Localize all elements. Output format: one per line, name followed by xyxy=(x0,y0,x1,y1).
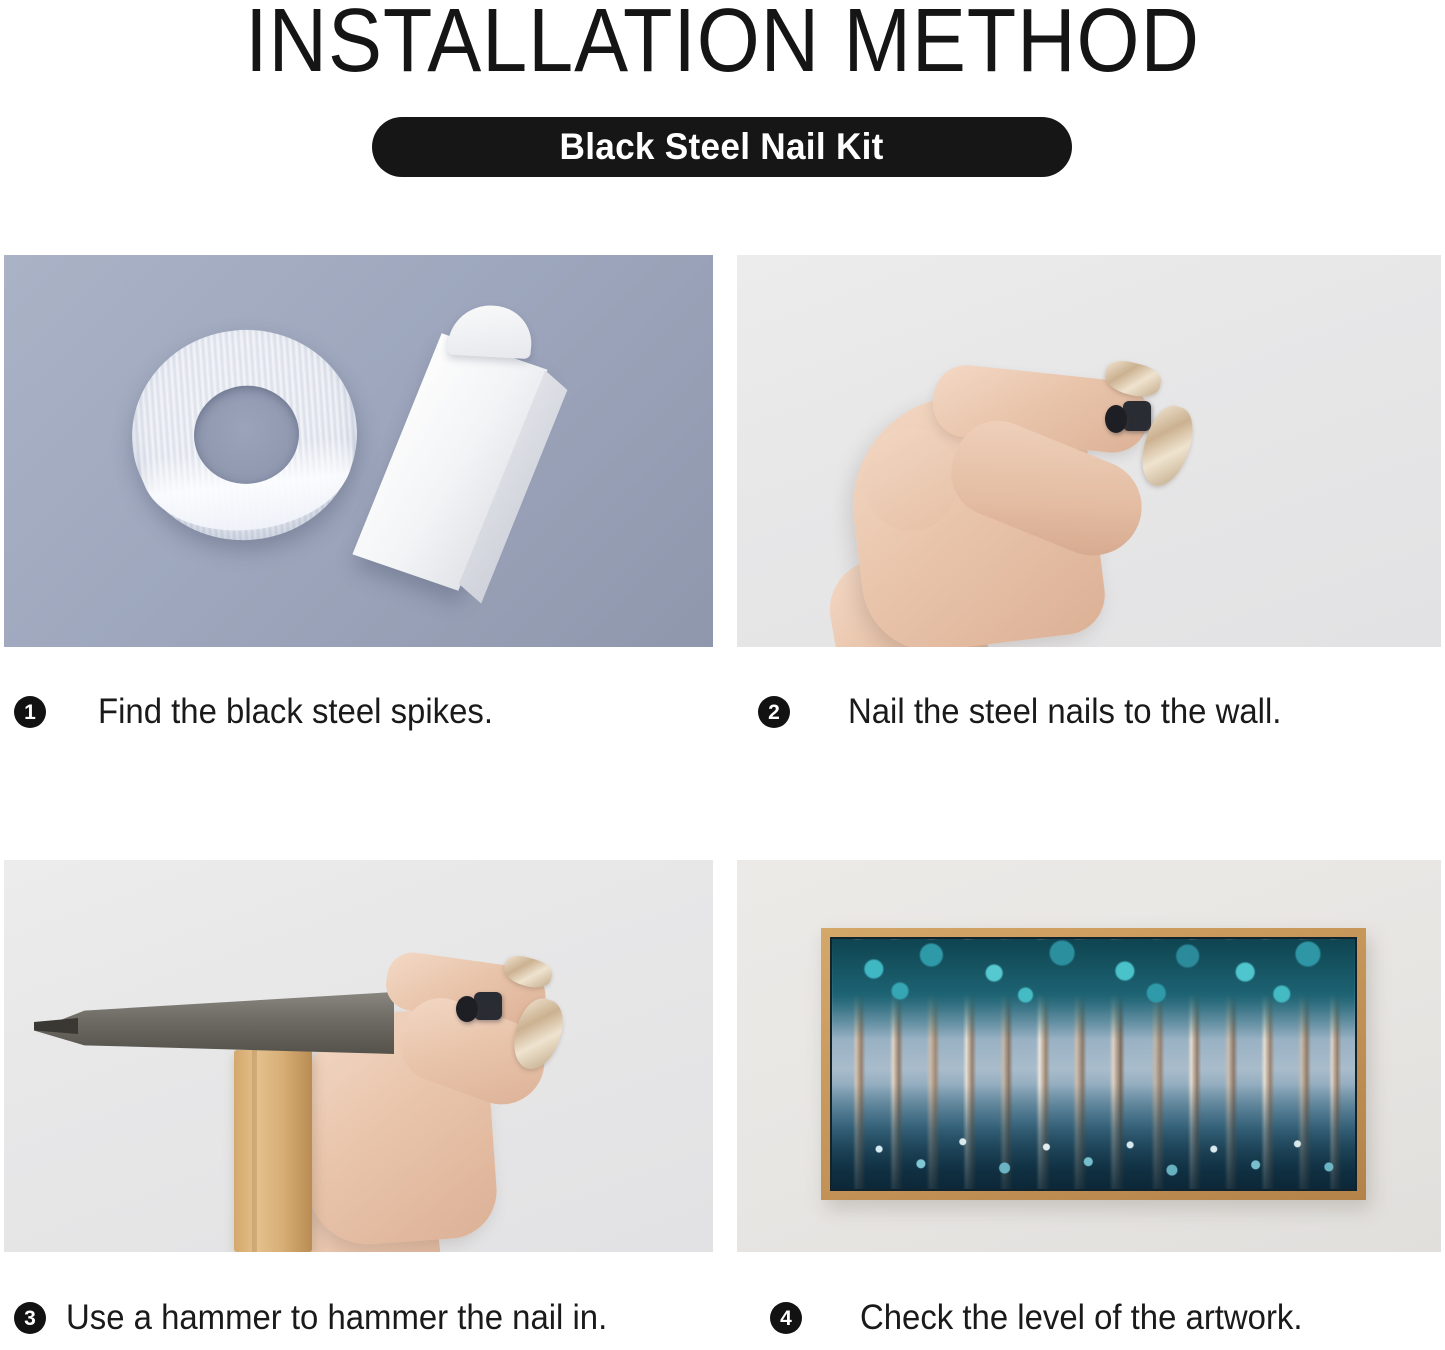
tape-roll-object xyxy=(122,319,368,551)
step-caption-text: Nail the steel nails to the wall. xyxy=(848,692,1281,732)
kit-contents-photo xyxy=(4,255,713,647)
steel-nail-head xyxy=(1105,405,1127,433)
step-1-caption: 1 Find the black steel spikes. xyxy=(14,690,518,734)
subtitle-text: Black Steel Nail Kit xyxy=(560,126,884,168)
step-4-image xyxy=(737,860,1441,1252)
hammer-nail-photo xyxy=(4,860,713,1252)
step-3-caption: 3 Use a hammer to hammer the nail in. xyxy=(14,1296,642,1340)
step-number-badge: 3 xyxy=(14,1302,46,1334)
header: INSTALLATION METHOD Black Steel Nail Kit xyxy=(0,0,1445,240)
page-title: INSTALLATION METHOD xyxy=(72,0,1373,89)
step-caption-text: Use a hammer to hammer the nail in. xyxy=(66,1298,607,1338)
step-1-image xyxy=(4,255,713,647)
product-box-side xyxy=(459,370,568,603)
step-caption-text: Find the black steel spikes. xyxy=(98,692,493,732)
step-4-caption: 4 Check the level of the artwork. xyxy=(770,1296,1331,1340)
steel-nail-object xyxy=(474,992,502,1020)
subtitle-badge: Black Steel Nail Kit xyxy=(372,117,1072,177)
step-caption-text: Check the level of the artwork. xyxy=(860,1298,1303,1338)
hammer-head xyxy=(34,992,394,1054)
hold-nail-photo xyxy=(737,255,1441,647)
artwork-canopy xyxy=(832,939,1355,1039)
steel-nail-head xyxy=(456,996,478,1022)
steel-nail-object xyxy=(1123,401,1151,431)
artwork-understory xyxy=(832,1084,1355,1189)
picture-frame xyxy=(821,928,1366,1200)
step-2-caption: 2 Nail the steel nails to the wall. xyxy=(758,690,1309,734)
step-2-image xyxy=(737,255,1441,647)
hammer-handle xyxy=(234,1050,312,1252)
product-box-flap xyxy=(447,303,535,359)
step-3-image xyxy=(4,860,713,1252)
product-box-object xyxy=(352,333,547,590)
step-number-badge: 1 xyxy=(14,696,46,728)
hand-knuckle xyxy=(863,427,959,531)
step-number-badge: 4 xyxy=(770,1302,802,1334)
artwork-canvas xyxy=(830,937,1357,1191)
hung-artwork-photo xyxy=(737,860,1441,1252)
step-number-badge: 2 xyxy=(758,696,790,728)
